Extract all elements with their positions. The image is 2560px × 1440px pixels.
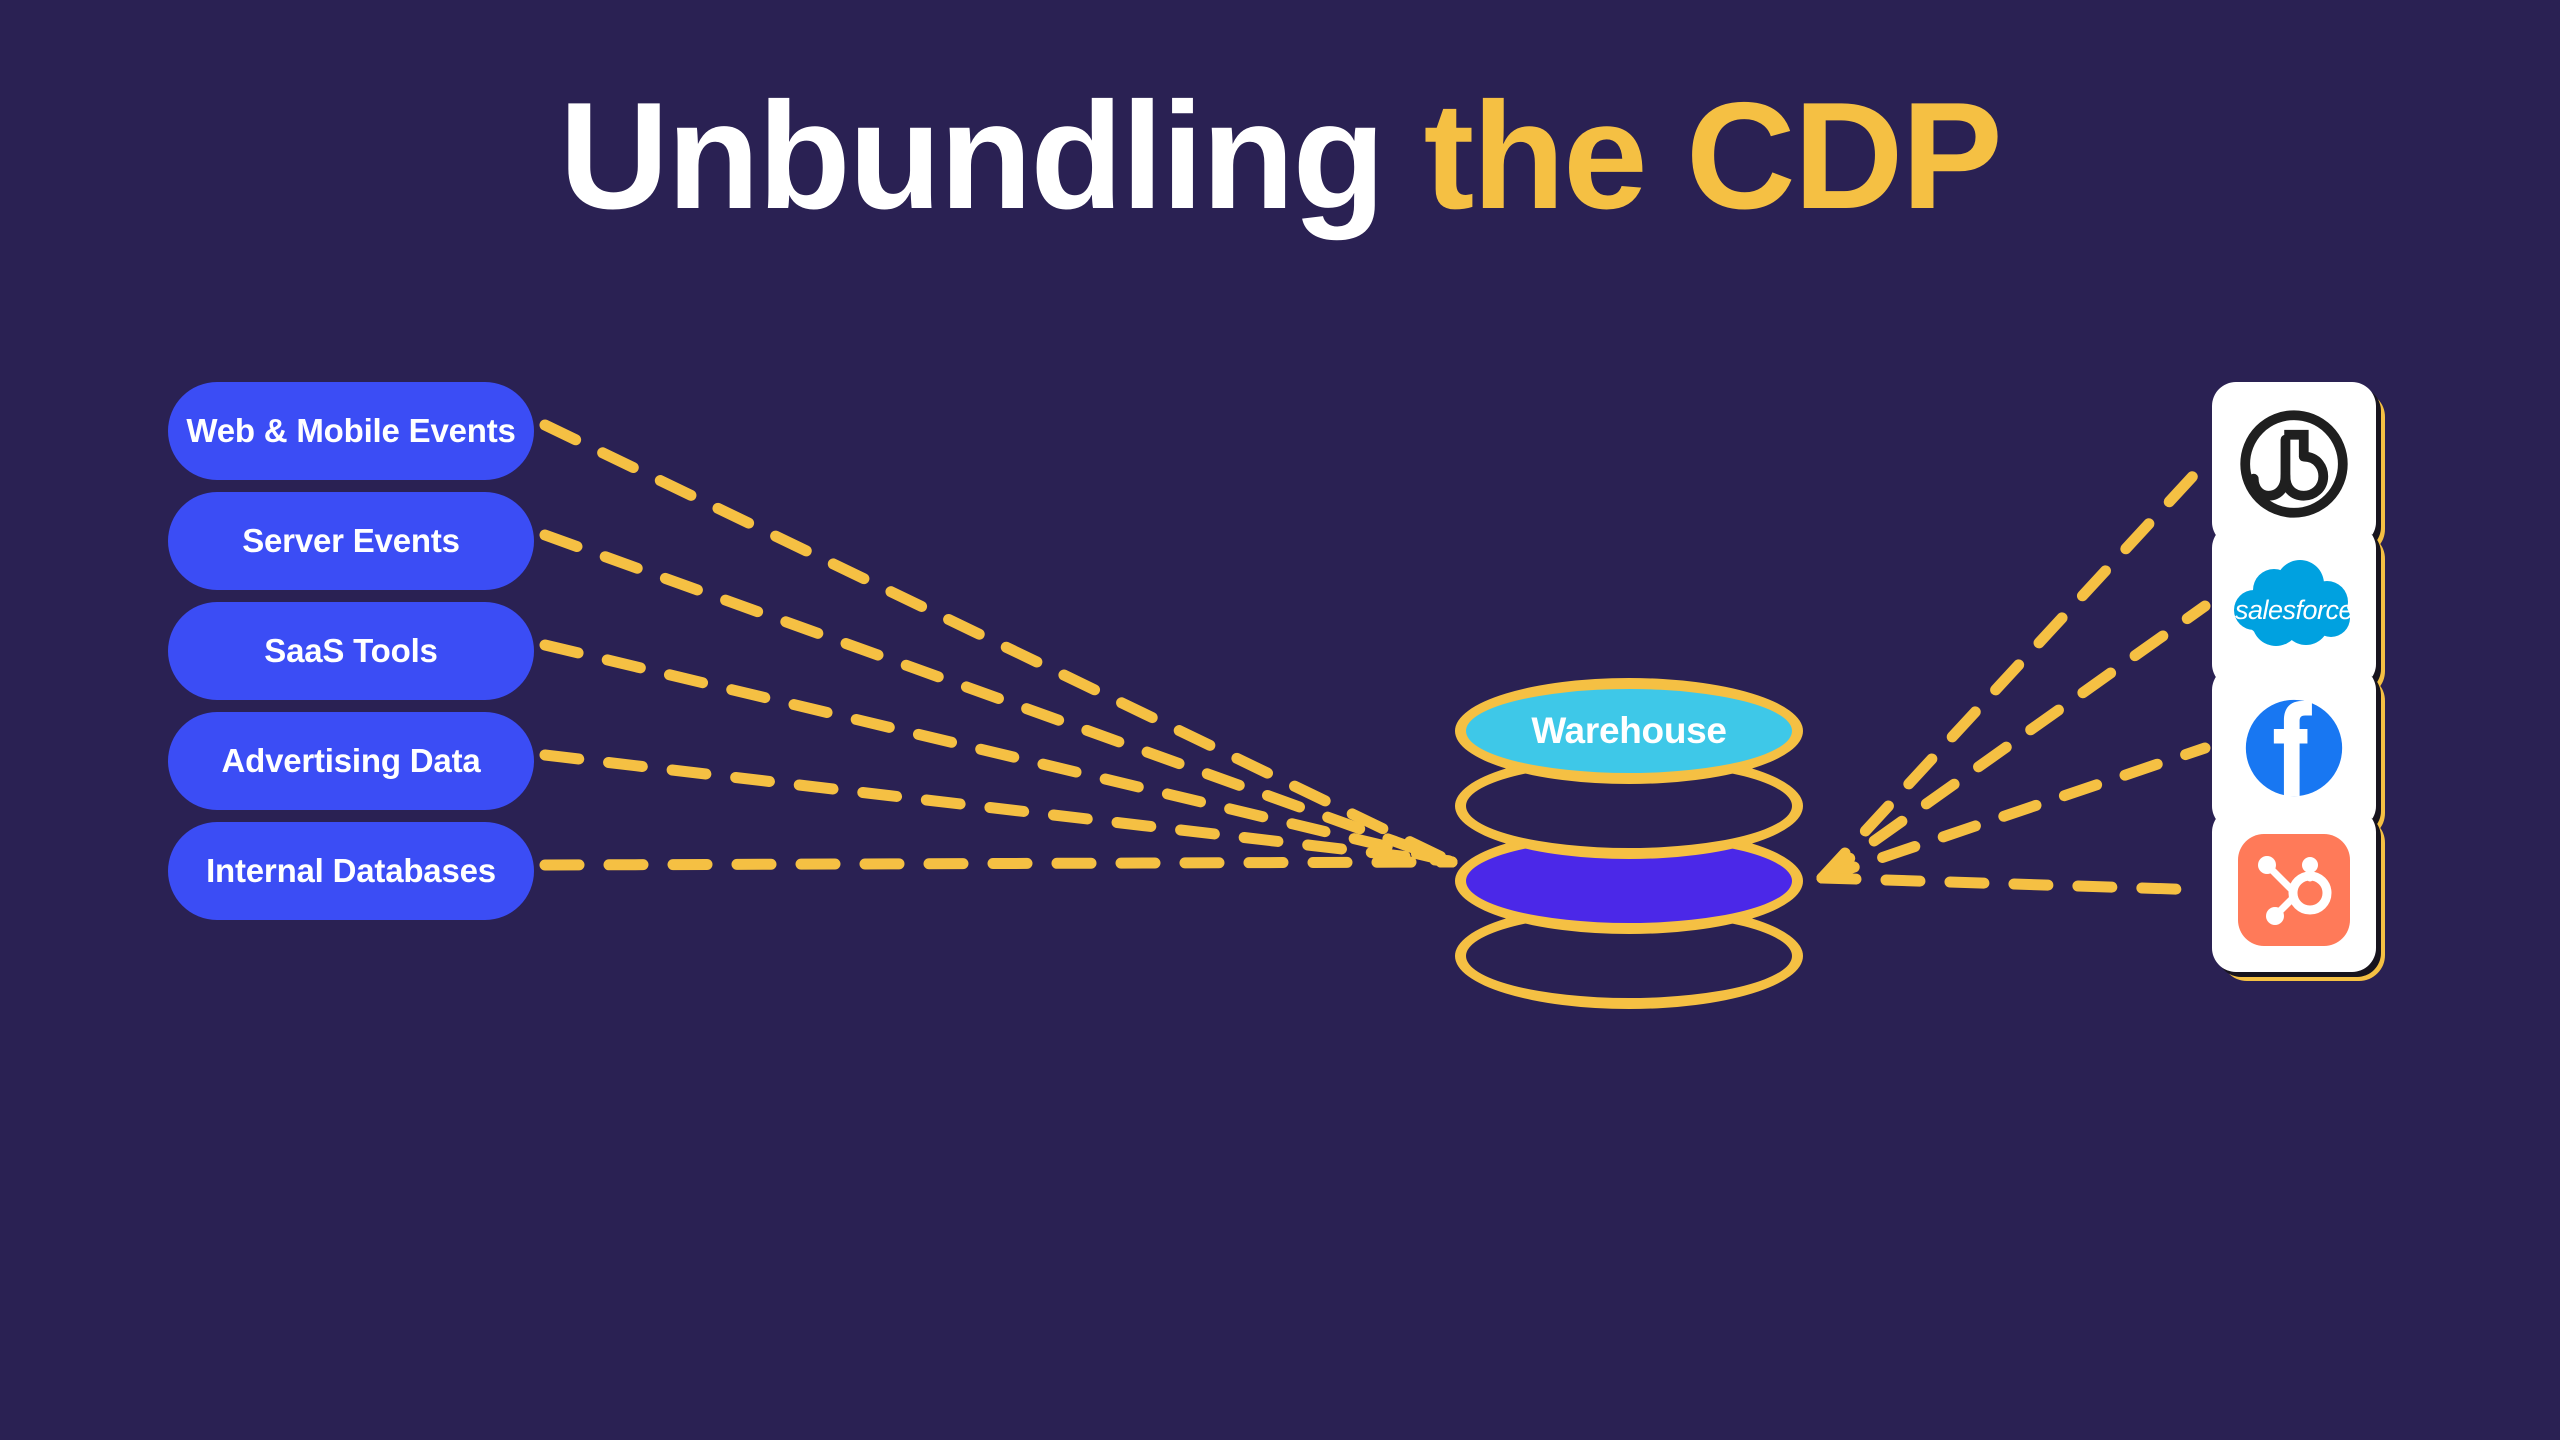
source-pill-internal-databases[interactable]: Internal Databases: [168, 822, 534, 920]
destination-card-facebook[interactable]: [2212, 666, 2376, 830]
source-pill-server-events[interactable]: Server Events: [168, 492, 534, 590]
connector-in-2: [545, 535, 1452, 862]
card-face: [2212, 382, 2376, 546]
facebook-icon: [2238, 692, 2350, 804]
hubspot-icon: [2234, 830, 2354, 950]
source-pill-label: Advertising Data: [221, 742, 480, 780]
title-white-part: Unbundling: [559, 71, 1383, 241]
warehouse-cylinder[interactable]: Warehouse: [1443, 668, 1815, 1068]
destination-card-hubspot[interactable]: [2212, 808, 2376, 972]
source-pill-label: SaaS Tools: [264, 632, 437, 670]
source-pill-label: Web & Mobile Events: [186, 412, 515, 450]
source-pill-web-mobile-events[interactable]: Web & Mobile Events: [168, 382, 534, 480]
connector-out-3: [1822, 748, 2205, 878]
diagram-canvas: Unbundling the CDP Web & Mobile Events S…: [0, 0, 2560, 1440]
connector-in-1: [545, 425, 1452, 862]
card-face: [2212, 808, 2376, 972]
connector-out-4: [1822, 878, 2205, 890]
connector-out-1: [1822, 463, 2205, 878]
source-pill-label: Internal Databases: [206, 852, 496, 890]
source-pill-saas-tools[interactable]: SaaS Tools: [168, 602, 534, 700]
connector-in-5: [545, 862, 1452, 865]
connector-in-4: [545, 755, 1452, 862]
destination-card-braze[interactable]: [2212, 382, 2376, 546]
source-pill-label: Server Events: [242, 522, 460, 560]
page-title: Unbundling the CDP: [0, 80, 2560, 232]
svg-text:salesforce: salesforce: [2235, 595, 2354, 625]
title-yellow-part: the CDP: [1383, 71, 2000, 241]
source-pill-advertising-data[interactable]: Advertising Data: [168, 712, 534, 810]
connector-in-3: [545, 645, 1452, 862]
braze-icon: [2233, 403, 2355, 525]
connector-out-2: [1822, 606, 2205, 878]
destination-card-salesforce[interactable]: salesforce: [2212, 524, 2376, 688]
card-face: salesforce: [2212, 524, 2376, 688]
salesforce-icon: salesforce: [2230, 560, 2358, 652]
card-face: [2212, 666, 2376, 830]
warehouse-label: Warehouse: [1455, 678, 1803, 784]
